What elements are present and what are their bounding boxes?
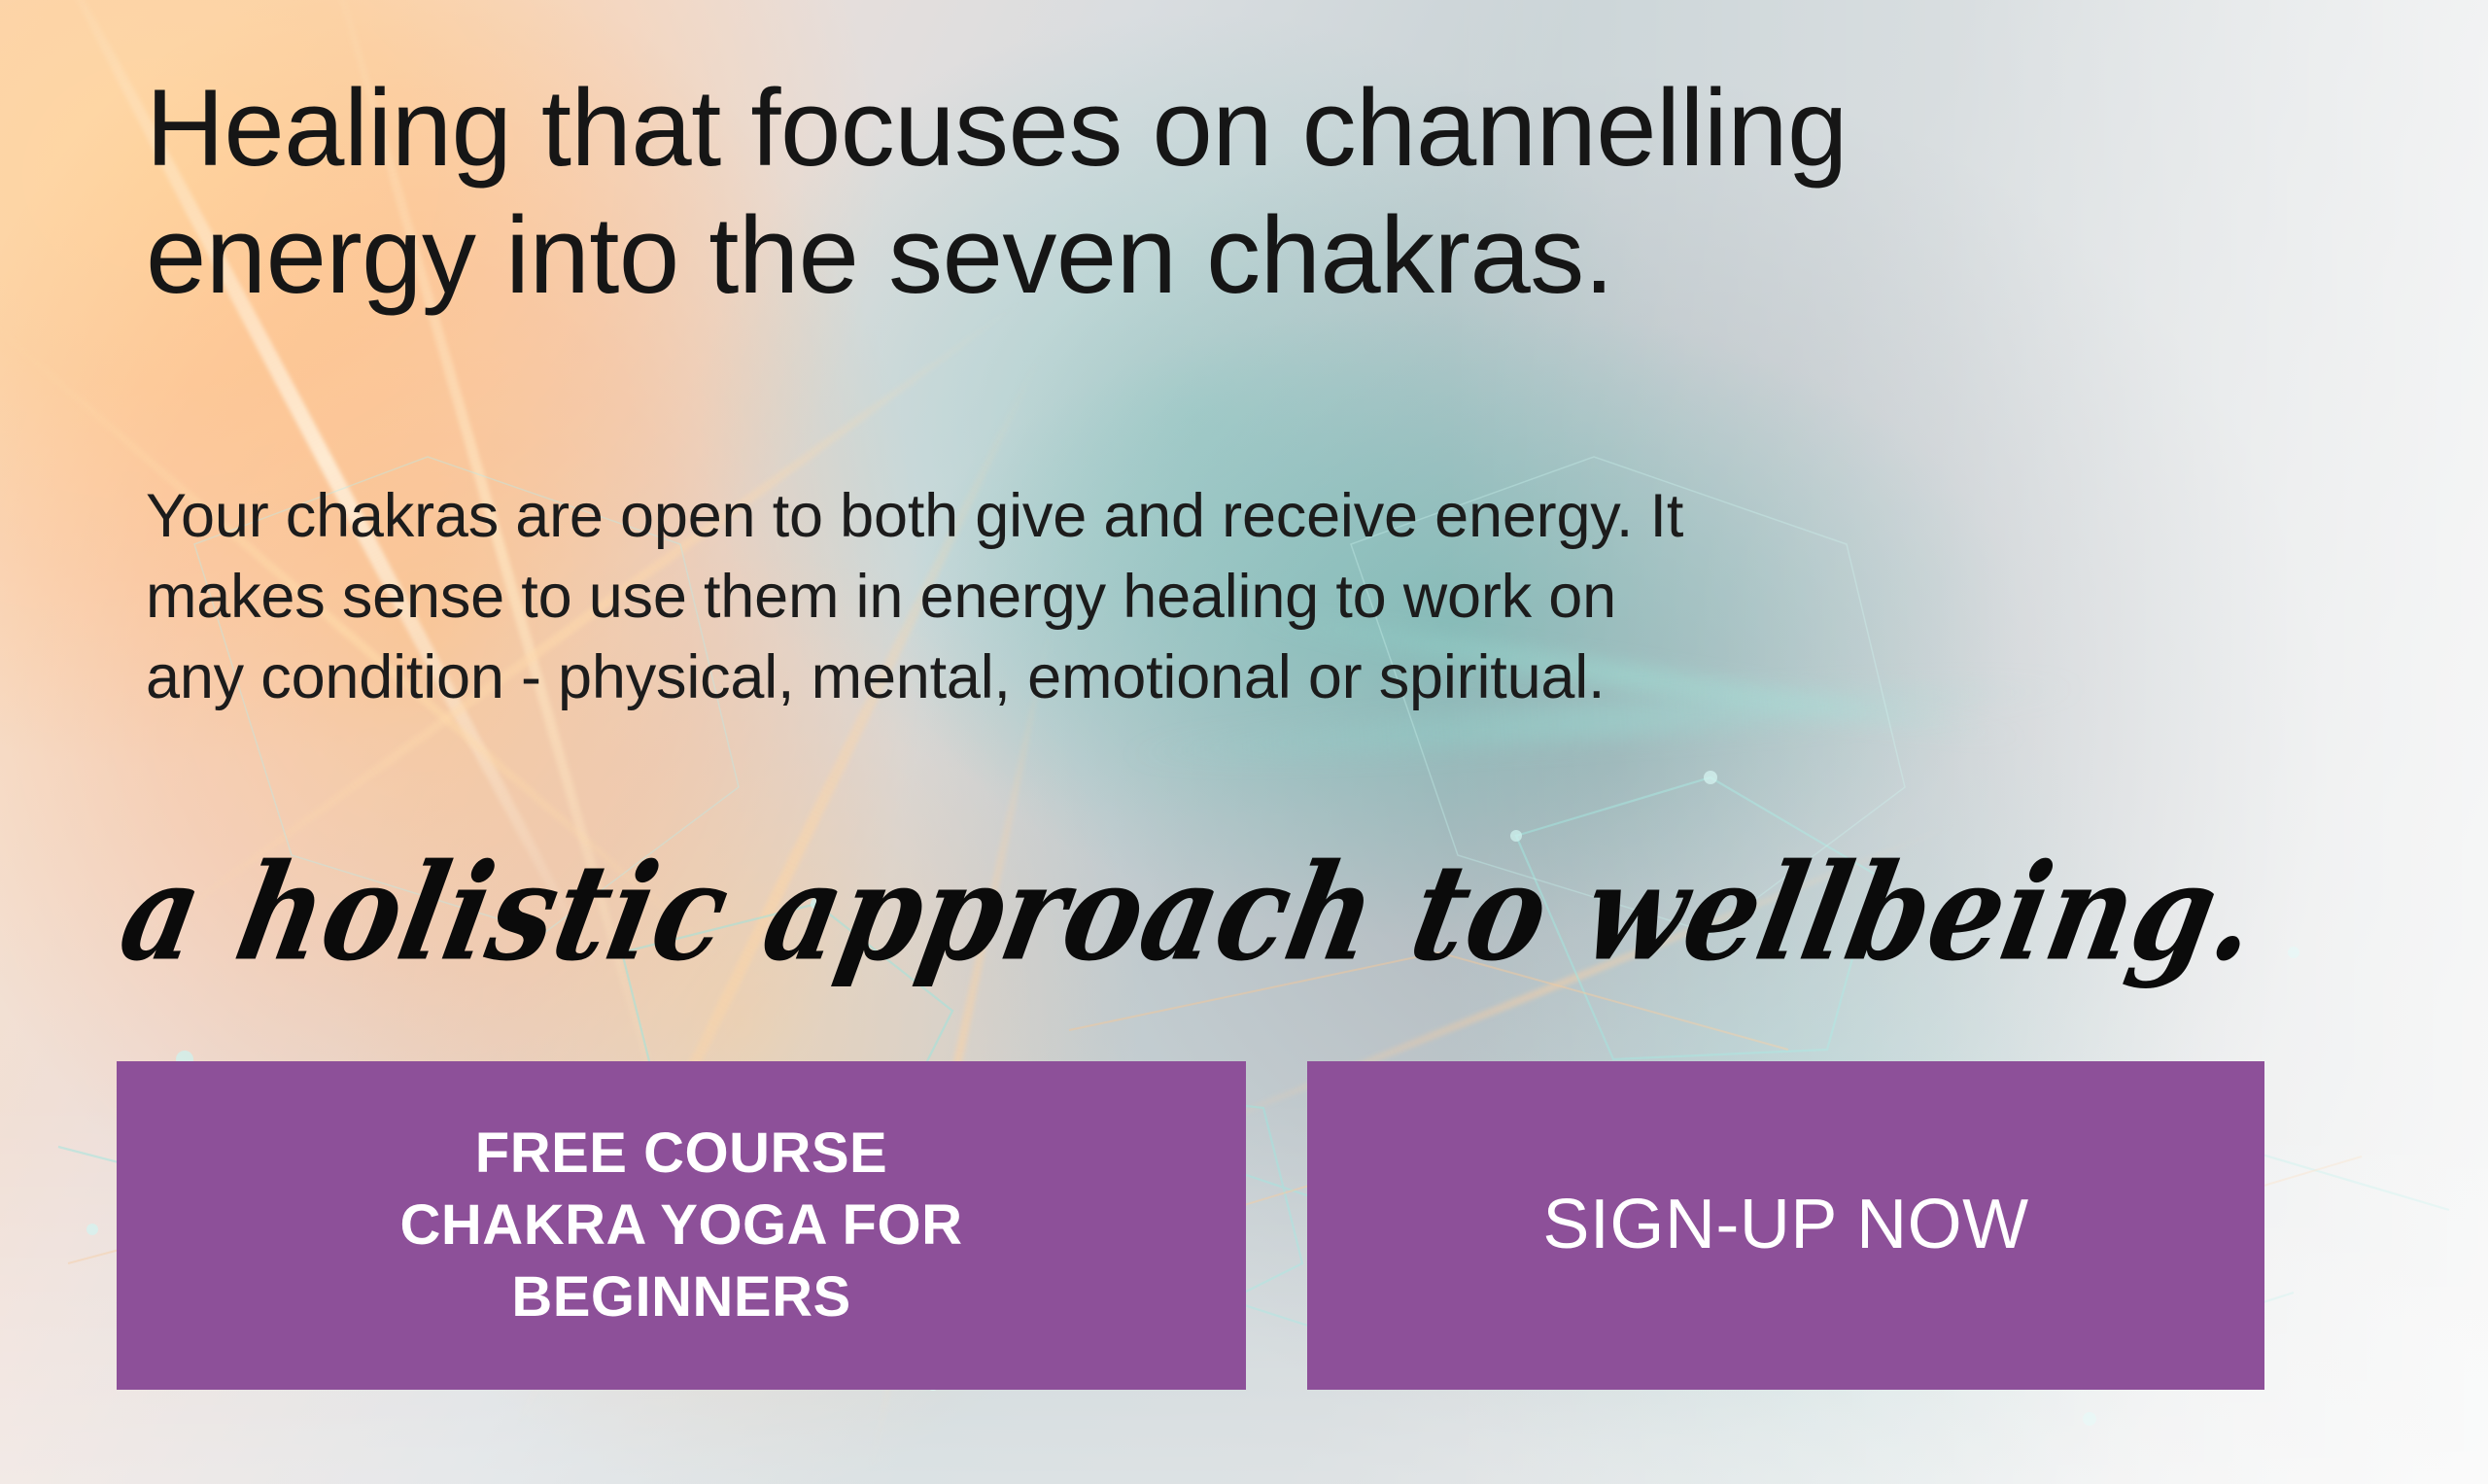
page-title: Healing that focuses on channelling ener… bbox=[146, 64, 2371, 319]
body-paragraph: Your chakras are open to both give and r… bbox=[146, 476, 2381, 718]
sign-up-now-button-label: SIGN-UP NOW bbox=[1542, 1187, 2028, 1263]
sign-up-now-button[interactable]: SIGN-UP NOW bbox=[1307, 1061, 2264, 1390]
free-course-line-3: BEGINNERS bbox=[511, 1265, 850, 1329]
free-course-button-label: FREE COURSE CHAKRA YOGA FOR BEGINNERS bbox=[400, 1118, 963, 1334]
free-course-button[interactable]: FREE COURSE CHAKRA YOGA FOR BEGINNERS bbox=[117, 1061, 1246, 1390]
free-course-line-1: FREE COURSE bbox=[475, 1122, 887, 1185]
free-course-line-2: CHAKRA YOGA FOR bbox=[400, 1193, 963, 1257]
body-line-1: Your chakras are open to both give and r… bbox=[146, 482, 1683, 550]
script-tagline: a holistic approach to wellbeing. bbox=[112, 846, 2364, 980]
headline-line-2: energy into the seven chakras. bbox=[146, 194, 1613, 316]
body-line-3: any condition - physical, mental, emotio… bbox=[146, 643, 1605, 711]
headline-line-1: Healing that focuses on channelling bbox=[146, 67, 1848, 189]
body-line-2: makes sense to use them in energy healin… bbox=[146, 563, 1616, 631]
